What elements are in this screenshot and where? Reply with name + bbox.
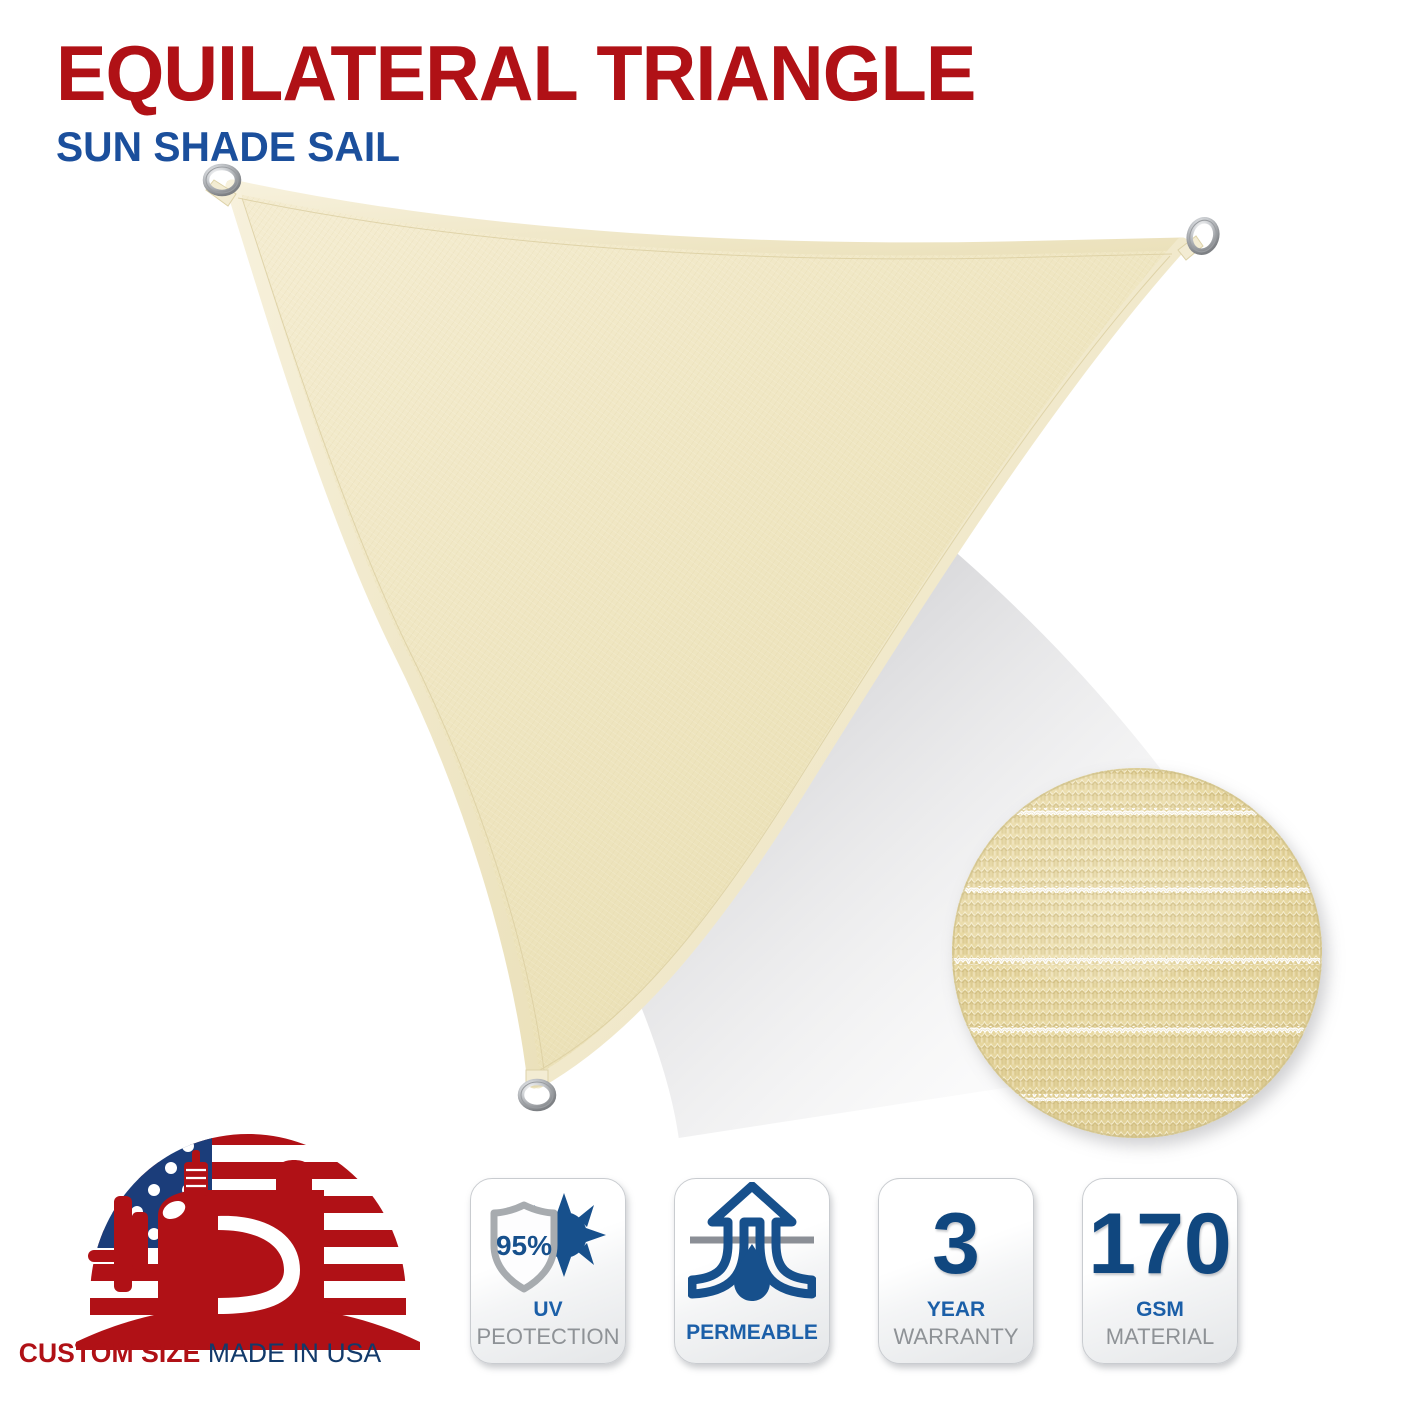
warranty-label-primary: YEAR [879,1299,1033,1321]
usa-caption-secondary: MADE IN USA [208,1338,381,1368]
usa-logo-caption: CUSTOM SIZE MADE IN USA [0,1338,400,1369]
gsm-label-secondary: MATERIAL [1083,1325,1237,1348]
gsm-material-badge[interactable]: 170 GSM MATERIAL [1082,1178,1238,1364]
corner-d-ring-bottom [521,1070,553,1108]
gsm-number: 170 [1083,1185,1237,1303]
fabric-close-up-swatch [952,768,1322,1138]
page-title: EQUILATERAL TRIANGLE [56,34,975,112]
feature-badges: 95% UV PEOTECTION PERMEABLE 3 YEAR WARRA… [470,1178,1238,1364]
svg-text:95%: 95% [496,1230,552,1261]
usa-caption-primary: CUSTOM SIZE [19,1338,201,1368]
uv-protection-badge[interactable]: 95% UV PEOTECTION [470,1178,626,1364]
arrow-water-drop-icon [675,1187,829,1299]
uv-label-primary: UV [471,1299,625,1321]
permeable-badge[interactable]: PERMEABLE [674,1178,830,1364]
gsm-label-primary: GSM [1083,1299,1237,1321]
permeable-label: PERMEABLE [675,1321,829,1345]
warranty-badge[interactable]: 3 YEAR WARRANTY [878,1178,1034,1364]
header: EQUILATERAL TRIANGLE SUN SHADE SAIL [56,34,1004,168]
warranty-label-secondary: WARRANTY [879,1325,1033,1348]
warranty-number: 3 [879,1185,1033,1303]
weave-texture [952,768,1322,1138]
shield-sun-icon: 95% [471,1187,625,1299]
shield-icon: 95% [494,1205,554,1289]
uv-label-secondary: PEOTECTION [471,1325,625,1348]
